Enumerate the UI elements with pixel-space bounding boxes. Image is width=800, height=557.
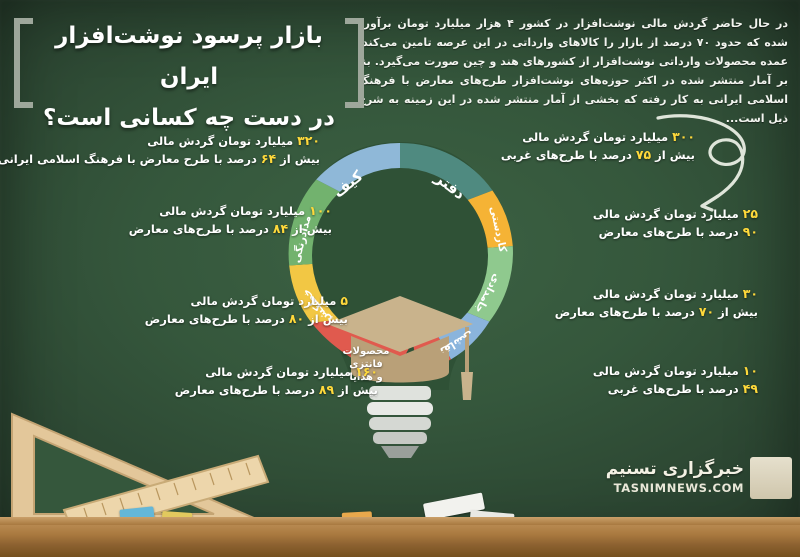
page-title-line1: بازار پرسود نوشت‌افزار ایران <box>32 16 346 98</box>
bracket-right-icon <box>345 18 364 108</box>
callout-khatkesh: ۵ میلیارد تومان گردش مالی بیش از ۸۰ درصد… <box>148 292 348 328</box>
callout-naghashi: ۱۰ میلیارد تومان گردش مالی ۴۹ درصد با طر… <box>548 362 758 398</box>
intro-paragraph: در حال حاضر گردش مالی نوشت‌افزار در کشور… <box>358 14 788 128</box>
callout-daftar: ۳۰۰ میلیارد تومان گردش مالی بیش از ۷۵ در… <box>470 128 695 164</box>
title-block: بازار پرسود نوشت‌افزار ایران در دست چه ک… <box>14 12 364 104</box>
bracket-left-icon <box>14 18 33 108</box>
callout-jamedadi: ۳۰ میلیارد تومان گردش مالی بیش از ۷۰ درص… <box>548 285 758 321</box>
brand-block: خبرگزاری تسنیم TASNIMNEWS.COM <box>612 457 792 505</box>
callout-kardasti: ۲۵ میلیارد تومان گردش مالی ۹۰ درصد با طر… <box>548 205 758 241</box>
chalkboard-ledge <box>0 522 800 557</box>
tasnim-logo-icon <box>750 457 792 499</box>
callout-fantezi: ۱۶۰ میلیارد تومان گردش مالی بیش از ۸۹ در… <box>178 363 378 399</box>
brand-url: TASNIMNEWS.COM <box>614 481 744 495</box>
callout-kif: ۳۲۰ میلیارد تومان گردش مالی بیش از ۶۴ در… <box>70 132 320 168</box>
callout-medadrangi: ۱۰۰ میلیارد تومان گردش مالی بیش از ۸۴ در… <box>120 202 332 238</box>
infographic-canvas: در حال حاضر گردش مالی نوشت‌افزار در کشور… <box>0 0 800 557</box>
brand-name: خبرگزاری تسنیم <box>606 459 744 479</box>
